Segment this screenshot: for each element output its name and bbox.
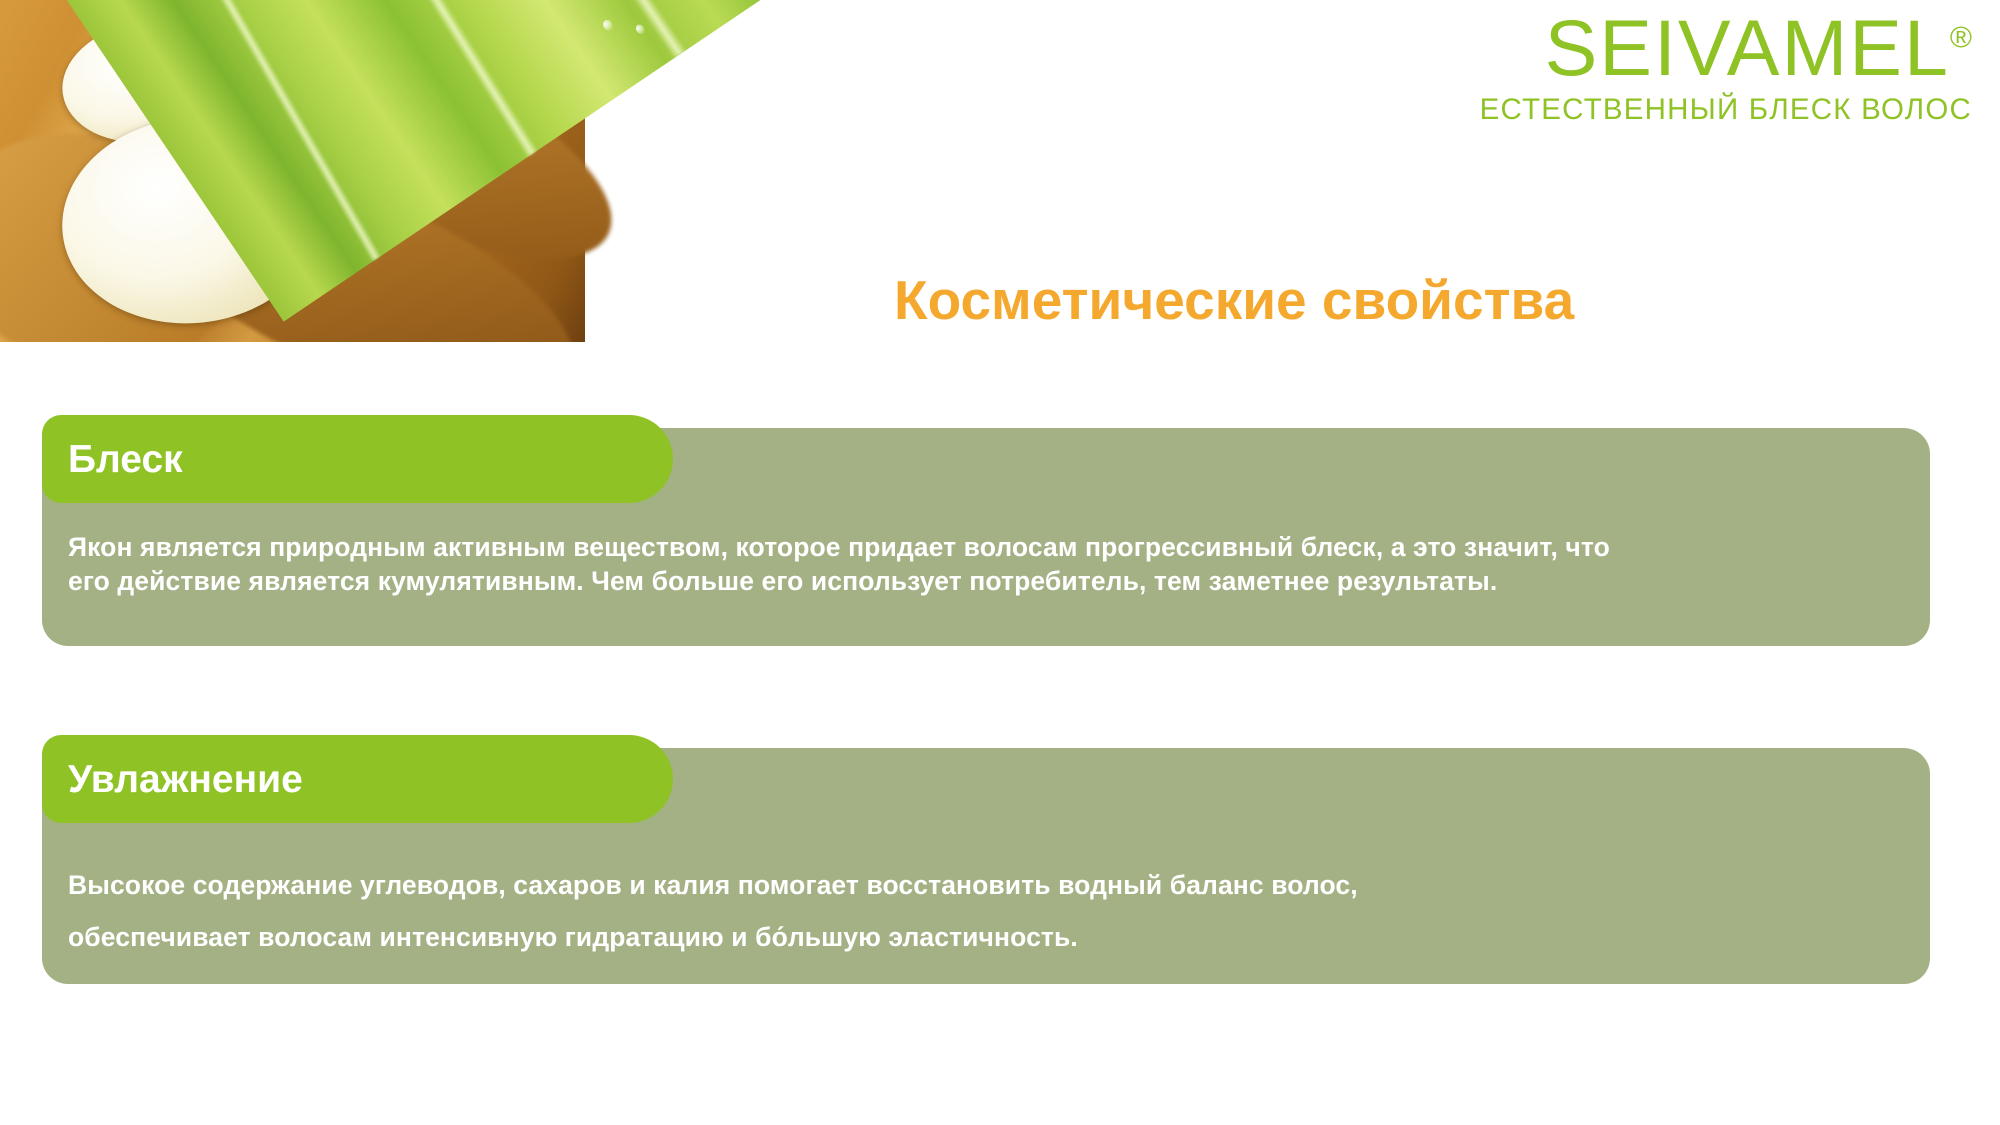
card-header-tab: Увлажнение	[42, 735, 673, 823]
card-body-line: его действие является кумулятивным. Чем …	[68, 564, 1900, 598]
registered-trademark-icon: ®	[1950, 22, 1972, 55]
leaf-vein	[314, 0, 538, 157]
card-header-tab: Блеск	[42, 415, 673, 503]
property-card-hydration: Увлажнение Высокое содержание углеводов,…	[42, 748, 1930, 984]
card-body-line: Высокое содержание углеводов, сахаров и …	[68, 860, 1900, 912]
page-title: Косметические свойства	[894, 268, 1574, 332]
logo-wordmark: SEIVAMEL®	[1480, 8, 1972, 87]
property-card-shine: Блеск Якон является природным активным в…	[42, 428, 1930, 646]
card-header-label: Увлажнение	[42, 760, 303, 799]
card-body-line: Якон является природным активным веществ…	[68, 530, 1900, 564]
card-body-text: Якон является природным активным веществ…	[68, 530, 1900, 599]
logo-wordmark-text: SEIVAMEL	[1545, 3, 1950, 92]
card-header-label: Блеск	[42, 440, 183, 479]
logo-tagline: ЕСТЕСТВЕННЫЙ БЛЕСК ВОЛОС	[1480, 93, 1972, 127]
card-body-line: обеспечивает волосам интенсивную гидрата…	[68, 912, 1900, 964]
card-body-text: Высокое содержание углеводов, сахаров и …	[68, 860, 1900, 963]
brand-logo: SEIVAMEL® ЕСТЕСТВЕННЫЙ БЛЕСК ВОЛОС	[1480, 8, 1972, 127]
